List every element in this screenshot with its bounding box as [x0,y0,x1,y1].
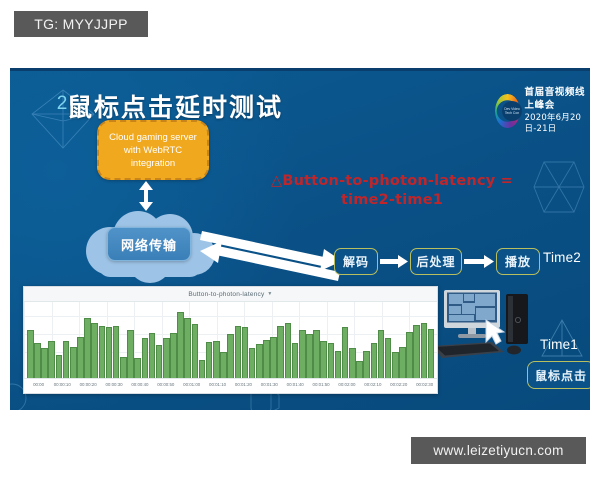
axis-tick-label: 00:01:10 [209,382,226,387]
logo-date-line: 2020年6月20日-21日 [525,113,591,136]
bar [120,357,127,378]
bar [184,318,191,378]
chart-plot-area [24,302,437,378]
bidirectional-vertical-arrow-icon [135,181,157,211]
bar [170,333,177,378]
bar [406,332,413,378]
bar [192,324,199,378]
mouse-click-box: 鼠标点击 [527,361,590,389]
time1-label: Time1 [540,337,578,352]
chevron-down-icon[interactable]: ▼ [267,291,272,297]
axis-tick-label: 00:00:20 [80,382,97,387]
bar [292,343,299,378]
bar [77,337,84,378]
bar [313,330,320,378]
bar [34,343,41,378]
bar [48,341,55,378]
bar [335,351,342,378]
axis-tick-label: 00:01:30 [261,382,278,387]
bar [371,343,378,378]
bar [27,330,34,378]
axis-tick-label: 00:00:50 [157,382,174,387]
axis-tick-label: 00:00:10 [54,382,71,387]
axis-tick-label: 00:00 [33,382,44,387]
bar [91,323,98,378]
page-title: 鼠标点击延时测试 [67,88,283,124]
bar [220,352,227,378]
axis-tick-label: 00:02:30 [416,382,433,387]
bar [149,333,156,378]
axis-tick-label: 00:01:20 [235,382,252,387]
bar [413,325,420,378]
bar [163,338,170,378]
bar [206,342,213,378]
bar [199,360,206,378]
bar [142,338,149,378]
chart-title-bar[interactable]: Button-to-photon-latency ▼ [24,287,437,302]
bar [127,330,134,378]
bar [363,351,370,378]
bar [227,334,234,378]
bar [378,330,385,378]
bar [235,326,242,378]
bidirectional-transport-arrows-icon [196,223,344,291]
bar [63,341,70,378]
latency-formula-text: △Button-to-photon-latency = time2-time1 [242,172,542,210]
bar [320,341,327,378]
cloud-label: 网络传输 [107,227,191,261]
logo-title-line: 首届音视频线上峰会 [525,87,591,113]
bar [213,341,220,378]
axis-tick-label: 00:00:30 [105,382,122,387]
bar [70,347,77,378]
bar [328,343,335,378]
bar [392,352,399,378]
bar [349,348,356,378]
axis-tick-label: 00:01:40 [287,382,304,387]
bar [256,344,263,378]
bar [106,327,113,378]
computer-illustration [430,290,540,364]
bar [84,318,91,378]
gridline-vertical [24,302,25,378]
bar [306,334,313,378]
bar [356,361,363,378]
gridline-vertical [437,302,438,378]
summit-logo: Dev Video Tech Con 首届音视频线上峰会 2020年6月20日-… [495,87,590,136]
time2-label: Time2 [543,250,581,265]
chart-bars [27,304,434,378]
pipeline-box-decode: 解码 [334,248,378,275]
pipeline-box-playback: 播放 [496,248,540,275]
axis-tick-label: 00:02:20 [390,382,407,387]
pipeline-box-postprocess: 后处理 [410,248,462,275]
arrow-right-icon-2 [464,255,494,268]
bar [270,337,277,378]
bar [285,323,292,378]
bar [421,323,428,378]
axis-tick-label: 00:00:40 [131,382,148,387]
axis-tick-label: 00:02:00 [338,382,355,387]
bar [56,355,63,378]
bar [41,348,48,378]
bar [99,326,106,378]
bar [113,326,120,378]
bottom-watermark: www.leizetiyucn.com [411,437,586,464]
bar [299,330,306,378]
bar [242,327,249,378]
bar [399,347,406,378]
arrow-right-icon [380,255,408,268]
axis-tick-label: 00:02:10 [364,382,381,387]
bar [134,358,141,378]
chart-title: Button-to-photon-latency [188,291,264,298]
logo-ring-icon: Dev Video Tech Con [495,94,520,128]
bar [156,345,163,378]
latency-chart-panel: Button-to-photon-latency ▼ 00:0000:00:10… [23,286,438,394]
chart-x-axis: 00:0000:00:1000:00:2000:00:3000:00:4000:… [24,378,437,393]
cloud-gaming-server-box: Cloud gaming server with WebRTC integrat… [97,120,209,180]
top-watermark: TG: MYYJJPP [14,11,148,37]
bar [177,312,184,378]
bar [342,327,349,378]
bar [277,326,284,378]
presentation-slide: 2 鼠标点击延时测试 Dev Video Tech Con 首届音视频线上峰会 … [10,68,590,410]
bar [428,329,435,378]
bar [385,338,392,378]
bar [249,348,256,378]
bar [263,340,270,378]
logo-ring-inner-text: Dev Video Tech Con [502,101,522,121]
axis-tick-label: 00:01:00 [183,382,200,387]
axis-tick-label: 00:01:50 [313,382,330,387]
